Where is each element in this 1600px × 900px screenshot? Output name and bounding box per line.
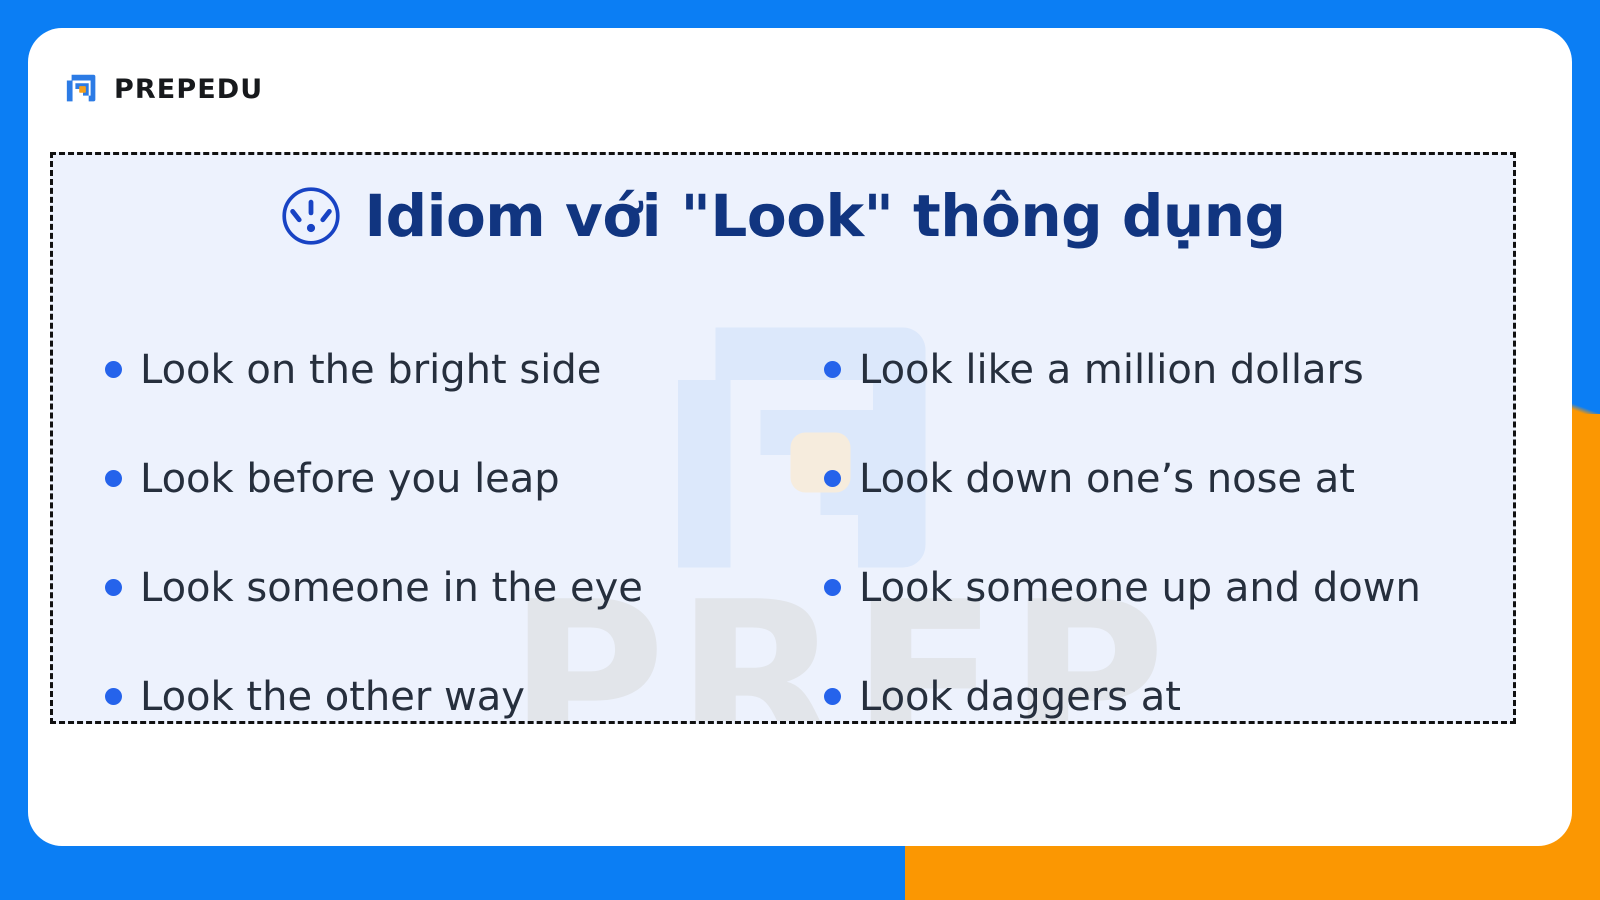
idiom-label: Look someone up and down [859,565,1421,611]
idiom-label: Look someone in the eye [140,565,643,611]
idiom-label: Look before you leap [140,456,560,502]
list-item[interactable]: Look someone in the eye [105,533,794,642]
list-item[interactable]: Look before you leap [105,424,794,533]
bullet-dot-icon [824,361,841,378]
idiom-label: Look daggers at [859,674,1181,720]
bullet-dot-icon [105,579,122,596]
idioms-column-right: Look like a million dollars Look down on… [794,315,1513,724]
idiom-label: Look the other way [140,674,525,720]
bullet-dot-icon [105,688,122,705]
idioms-columns: Look on the bright side Look before you … [53,315,1513,724]
bullet-dot-icon [105,470,122,487]
prep-logo-icon [64,70,102,108]
panel-heading: Idiom với "Look" thông dụng [53,185,1513,247]
brand-name: PREPEDU [114,76,263,103]
alert-spark-circle-icon [280,185,342,247]
brand-header: PREPEDU [64,70,263,108]
idioms-column-left: Look on the bright side Look before you … [53,315,794,724]
page-title: Idiom với "Look" thông dụng [364,186,1285,247]
list-item[interactable]: Look someone up and down [824,533,1513,642]
idiom-label: Look like a million dollars [859,347,1364,393]
list-item[interactable]: Look daggers at [824,642,1513,724]
bullet-dot-icon [105,361,122,378]
idioms-panel: PREP Idiom với "Look" thông dụng Look on… [50,152,1516,724]
content-card: PREPEDU PREP Idiom [28,28,1572,846]
list-item[interactable]: Look the other way [105,642,794,724]
bullet-dot-icon [824,579,841,596]
list-item[interactable]: Look down one’s nose at [824,424,1513,533]
idiom-label: Look on the bright side [140,347,601,393]
list-item[interactable]: Look like a million dollars [824,315,1513,424]
idiom-label: Look down one’s nose at [859,456,1355,502]
list-item[interactable]: Look on the bright side [105,315,794,424]
bullet-dot-icon [824,470,841,487]
bullet-dot-icon [824,688,841,705]
